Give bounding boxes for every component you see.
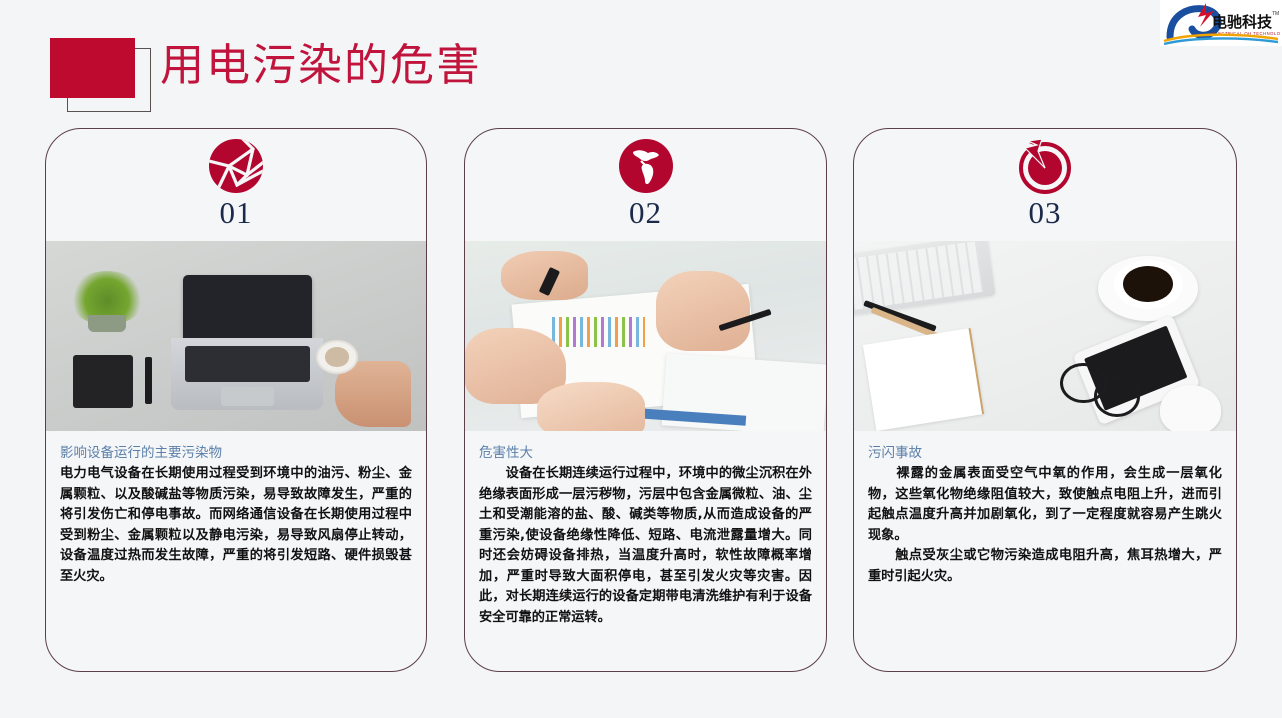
card-header: 02 <box>465 129 826 241</box>
card-photo-02 <box>465 241 826 431</box>
card-body: 影响设备运行的主要污染物 电力电气设备在长期使用过程受到环境中的油污、粉尘、金属… <box>46 431 426 587</box>
content-card-03: 03 污闪事故 裸露的金属表面受空气中氧的作用，会生成一层氧化物，这些氧化物绝缘… <box>853 128 1237 672</box>
svg-text:电驰科技: 电驰科技 <box>1212 13 1273 31</box>
eyeglasses-decor <box>1060 363 1144 412</box>
company-logo: 电驰科技 ELECTRICAL QH TECHNOLOGY TM <box>1160 0 1282 46</box>
keyboard-decor <box>185 346 310 382</box>
card-paragraph: 裸露的金属表面受空气中氧的作用，会生成一层氧化物，这些氧化物绝缘阻值较大，致使触… <box>868 464 1222 546</box>
card-photo-01 <box>46 241 426 431</box>
hand-decor <box>537 382 645 431</box>
card-body: 危害性大 设备在长期连续运行过程中，环境中的微尘沉积在外绝缘表面形成一层污秽物，… <box>465 431 826 628</box>
card-paragraph: 触点受灰尘或它物污染造成电阻升高，焦耳热增大，严重时引起火灾。 <box>868 546 1222 587</box>
pen-decor <box>145 357 153 405</box>
title-accent-square <box>50 38 135 98</box>
coffee-liquid-decor <box>1123 266 1173 302</box>
card-subtitle: 污闪事故 <box>868 441 1222 461</box>
chart-bars-decor <box>552 317 646 347</box>
pot-decor <box>88 315 126 332</box>
trackpad-decor <box>221 387 274 406</box>
card-number: 01 <box>46 195 426 231</box>
logo-mark-icon: 电驰科技 ELECTRICAL QH TECHNOLOGY TM <box>1162 1 1280 45</box>
pie-bolt-circle-icon <box>1016 137 1074 195</box>
coffee-cup-decor <box>316 340 358 374</box>
card-paragraph: 电力电气设备在长期使用过程受到环境中的油污、粉尘、金属颗粒、以及酸碱盐等物质污染… <box>60 464 412 587</box>
globe-icon <box>617 137 675 195</box>
card-number: 03 <box>854 195 1236 231</box>
card-photo-03 <box>854 241 1236 431</box>
content-card-02: 02 危害性大 设备在长期连续运行过程中，环境中的微尘沉积在外绝缘表面形成一层污… <box>464 128 827 672</box>
laptop-screen-decor <box>183 275 312 338</box>
card-paragraph: 设备在长期连续运行过程中，环境中的微尘沉积在外绝缘表面形成一层污秽物，污层中包含… <box>479 464 812 628</box>
hand-decor <box>656 271 750 351</box>
content-card-01: 01 影响设备运行的主要污染物 电力电气设备在长期使用过程受到环境中的油污、粉尘… <box>45 128 427 672</box>
card-header: 03 <box>854 129 1236 241</box>
card-header: 01 <box>46 129 426 241</box>
cracked-circle-icon <box>207 137 265 195</box>
card-number: 02 <box>465 195 826 231</box>
page-title-block: 用电污染的危害 <box>45 30 645 110</box>
card-subtitle: 危害性大 <box>479 441 812 461</box>
card-subtitle: 影响设备运行的主要污染物 <box>60 441 412 461</box>
card-body: 污闪事故 裸露的金属表面受空气中氧的作用，会生成一层氧化物，这些氧化物绝缘阻值较… <box>854 431 1236 587</box>
notebook-decor <box>73 355 134 408</box>
page-title: 用电污染的危害 <box>160 34 482 98</box>
svg-text:TM: TM <box>1272 11 1279 17</box>
mouse-decor <box>1160 385 1221 431</box>
notepad-decor <box>863 328 984 431</box>
